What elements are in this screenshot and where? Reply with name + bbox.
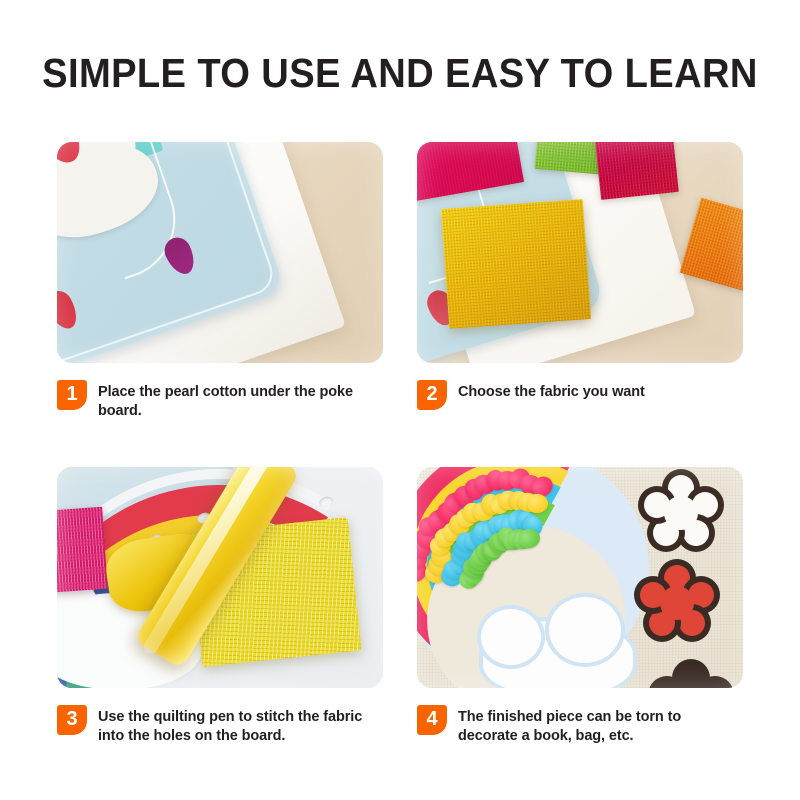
flower-petals	[649, 663, 733, 688]
step-4-text: The finished piece can be torn to decora…	[458, 705, 743, 746]
step-item-1: 1 Place the pearl cotton under the poke …	[57, 142, 383, 421]
step-1-caption: 1 Place the pearl cotton under the poke …	[57, 380, 383, 421]
flower-outline-white	[639, 473, 723, 553]
flower-outline-red	[635, 563, 719, 643]
step-3-text: Use the quilting pen to stitch the fabri…	[98, 705, 383, 746]
step-3-badge: 3	[57, 705, 87, 735]
fabric-square-pink	[57, 507, 108, 593]
flower-petals	[639, 473, 723, 553]
flower-outline-partial	[649, 663, 733, 688]
step-2-badge: 2	[417, 380, 447, 410]
step-2-photo	[417, 142, 743, 363]
step-1-badge: 1	[57, 380, 87, 410]
step-4-badge: 4	[417, 705, 447, 735]
step-item-4: 4 The finished piece can be torn to deco…	[417, 467, 743, 746]
fabric-square-yellow	[441, 199, 591, 329]
steps-grid: 1 Place the pearl cotton under the poke …	[0, 0, 800, 800]
fabric-square-orange	[680, 198, 743, 293]
fabric-square-magenta	[593, 142, 679, 200]
step-3-caption: 3 Use the quilting pen to stitch the fab…	[57, 705, 383, 746]
step-4-caption: 4 The finished piece can be torn to deco…	[417, 705, 743, 746]
flower-petals	[635, 563, 719, 643]
poster-page: SIMPLE TO USE AND EASY TO LEARN 1 Place …	[0, 0, 800, 800]
step-1-photo	[57, 142, 383, 363]
step-item-2: 2 Choose the fabric you want	[417, 142, 743, 410]
step-4-photo	[417, 467, 743, 688]
step-1-text: Place the pearl cotton under the poke bo…	[98, 380, 383, 421]
step-item-3: 3 Use the quilting pen to stitch the fab…	[57, 467, 383, 746]
step-2-text: Choose the fabric you want	[458, 380, 645, 402]
cloud-shape	[479, 617, 637, 688]
step-3-photo	[57, 467, 383, 688]
step-2-caption: 2 Choose the fabric you want	[417, 380, 743, 410]
